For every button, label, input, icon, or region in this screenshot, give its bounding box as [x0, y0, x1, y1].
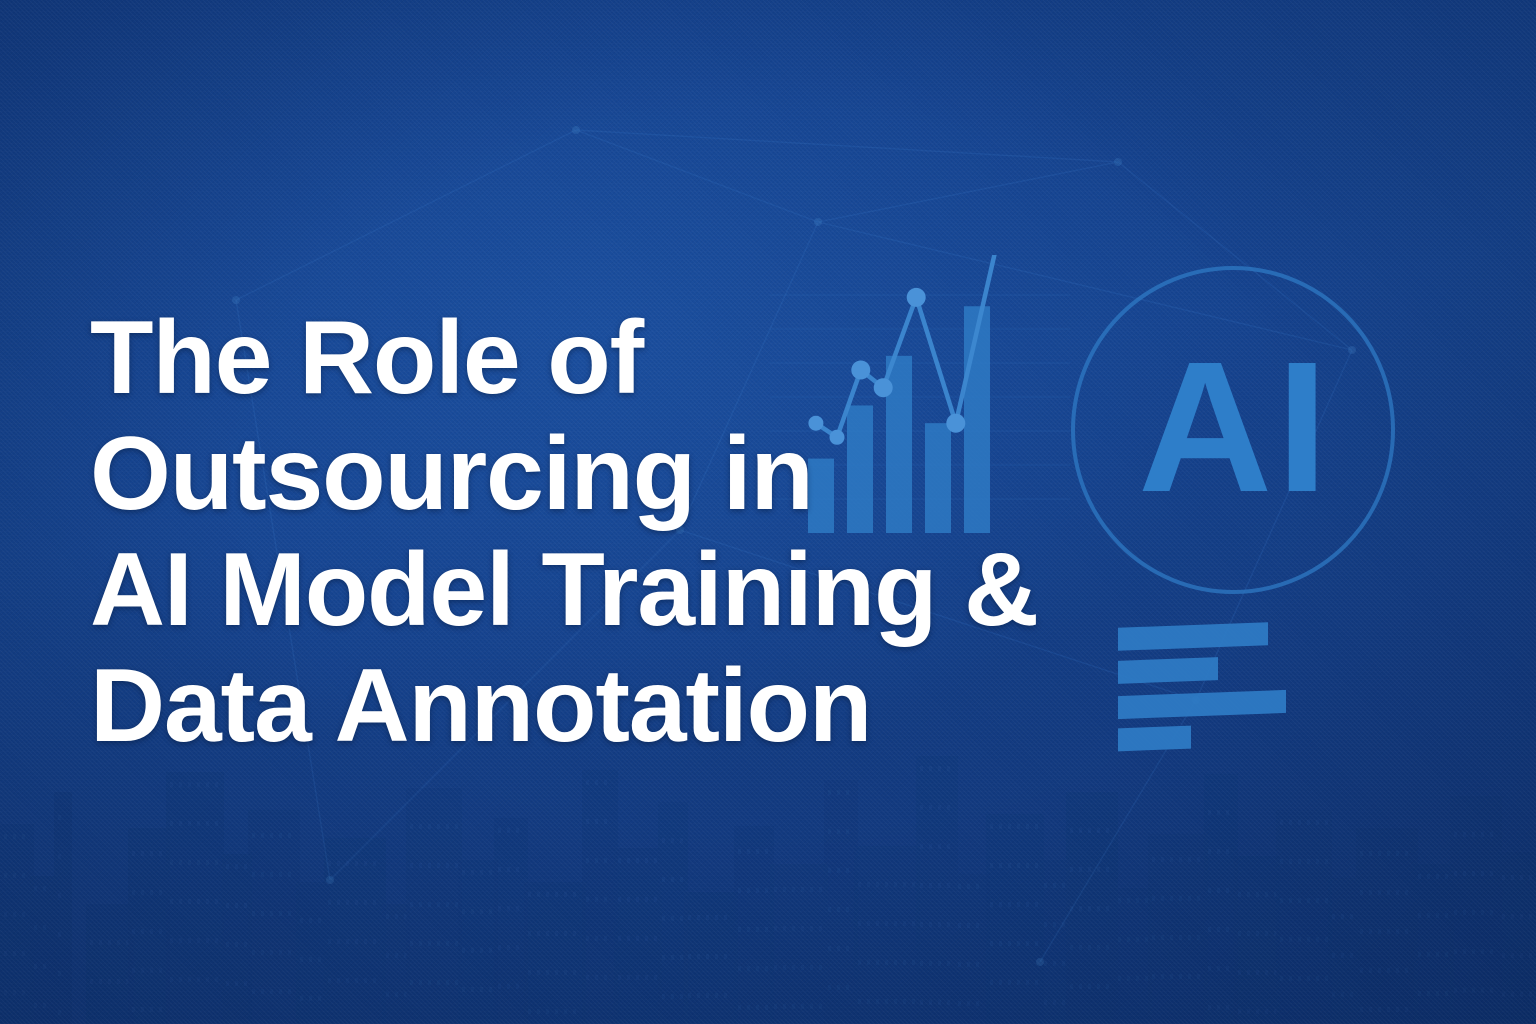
network-edge — [576, 130, 1118, 162]
building — [954, 874, 990, 1024]
hero-banner: AI The Role of Outsourcing in AI Model T… — [0, 0, 1536, 1024]
building — [524, 882, 586, 1024]
building — [54, 792, 72, 1024]
building — [1498, 852, 1536, 1024]
building — [916, 756, 958, 1024]
building — [406, 788, 462, 1024]
network-node — [1114, 158, 1122, 166]
building — [166, 772, 224, 1024]
document-line-3 — [1118, 690, 1286, 719]
network-node — [1036, 958, 1044, 966]
network-edge — [1040, 700, 1196, 962]
building — [658, 802, 688, 1024]
network-edge — [576, 130, 818, 222]
building — [248, 810, 300, 1024]
building — [296, 882, 330, 1024]
building — [1148, 834, 1208, 1024]
network-edge — [1118, 162, 1352, 350]
building — [684, 892, 738, 1024]
headline-line-1: The Role of — [90, 300, 1010, 416]
page-title: The Role of Outsourcing in AI Model Trai… — [90, 300, 1010, 764]
network-node — [572, 126, 580, 134]
network-node — [1192, 696, 1200, 704]
network-node — [326, 876, 334, 884]
building — [0, 824, 34, 1024]
network-edge — [818, 162, 1118, 222]
building — [734, 826, 774, 1024]
network-edge — [1196, 350, 1352, 700]
ai-badge-label: AI — [1065, 255, 1405, 600]
building — [1414, 864, 1454, 1024]
ai-badge: AI — [1065, 255, 1405, 600]
network-edge — [236, 130, 576, 300]
building — [1114, 888, 1152, 1024]
building — [494, 818, 528, 1024]
ai-circle-icon — [1065, 255, 1405, 600]
building — [854, 846, 920, 1024]
document-lines-icon — [1118, 615, 1418, 765]
document-line-1 — [1118, 622, 1268, 651]
building — [382, 904, 410, 1024]
building — [582, 770, 618, 1024]
headline-line-3: AI Model Training & — [90, 532, 1010, 648]
building — [824, 780, 858, 1024]
headline-line-4: Data Annotation — [90, 648, 1010, 764]
building — [30, 876, 56, 1024]
document-line-2 — [1118, 657, 1218, 684]
building — [324, 838, 386, 1024]
building — [1450, 796, 1502, 1024]
network-node — [1348, 346, 1356, 354]
document-line-4 — [1118, 726, 1191, 752]
building — [458, 860, 498, 1024]
building — [222, 854, 252, 1024]
building — [1356, 828, 1418, 1024]
building — [986, 814, 1044, 1024]
building — [86, 904, 134, 1024]
building — [1066, 792, 1118, 1024]
building — [614, 848, 662, 1024]
building — [1204, 774, 1238, 1024]
building — [770, 864, 828, 1024]
headline-line-2: Outsourcing in — [90, 416, 1010, 532]
building — [1040, 860, 1070, 1024]
building — [128, 828, 170, 1024]
building — [1276, 810, 1332, 1024]
building — [1234, 856, 1280, 1024]
building — [1328, 878, 1360, 1024]
network-node — [814, 218, 822, 226]
